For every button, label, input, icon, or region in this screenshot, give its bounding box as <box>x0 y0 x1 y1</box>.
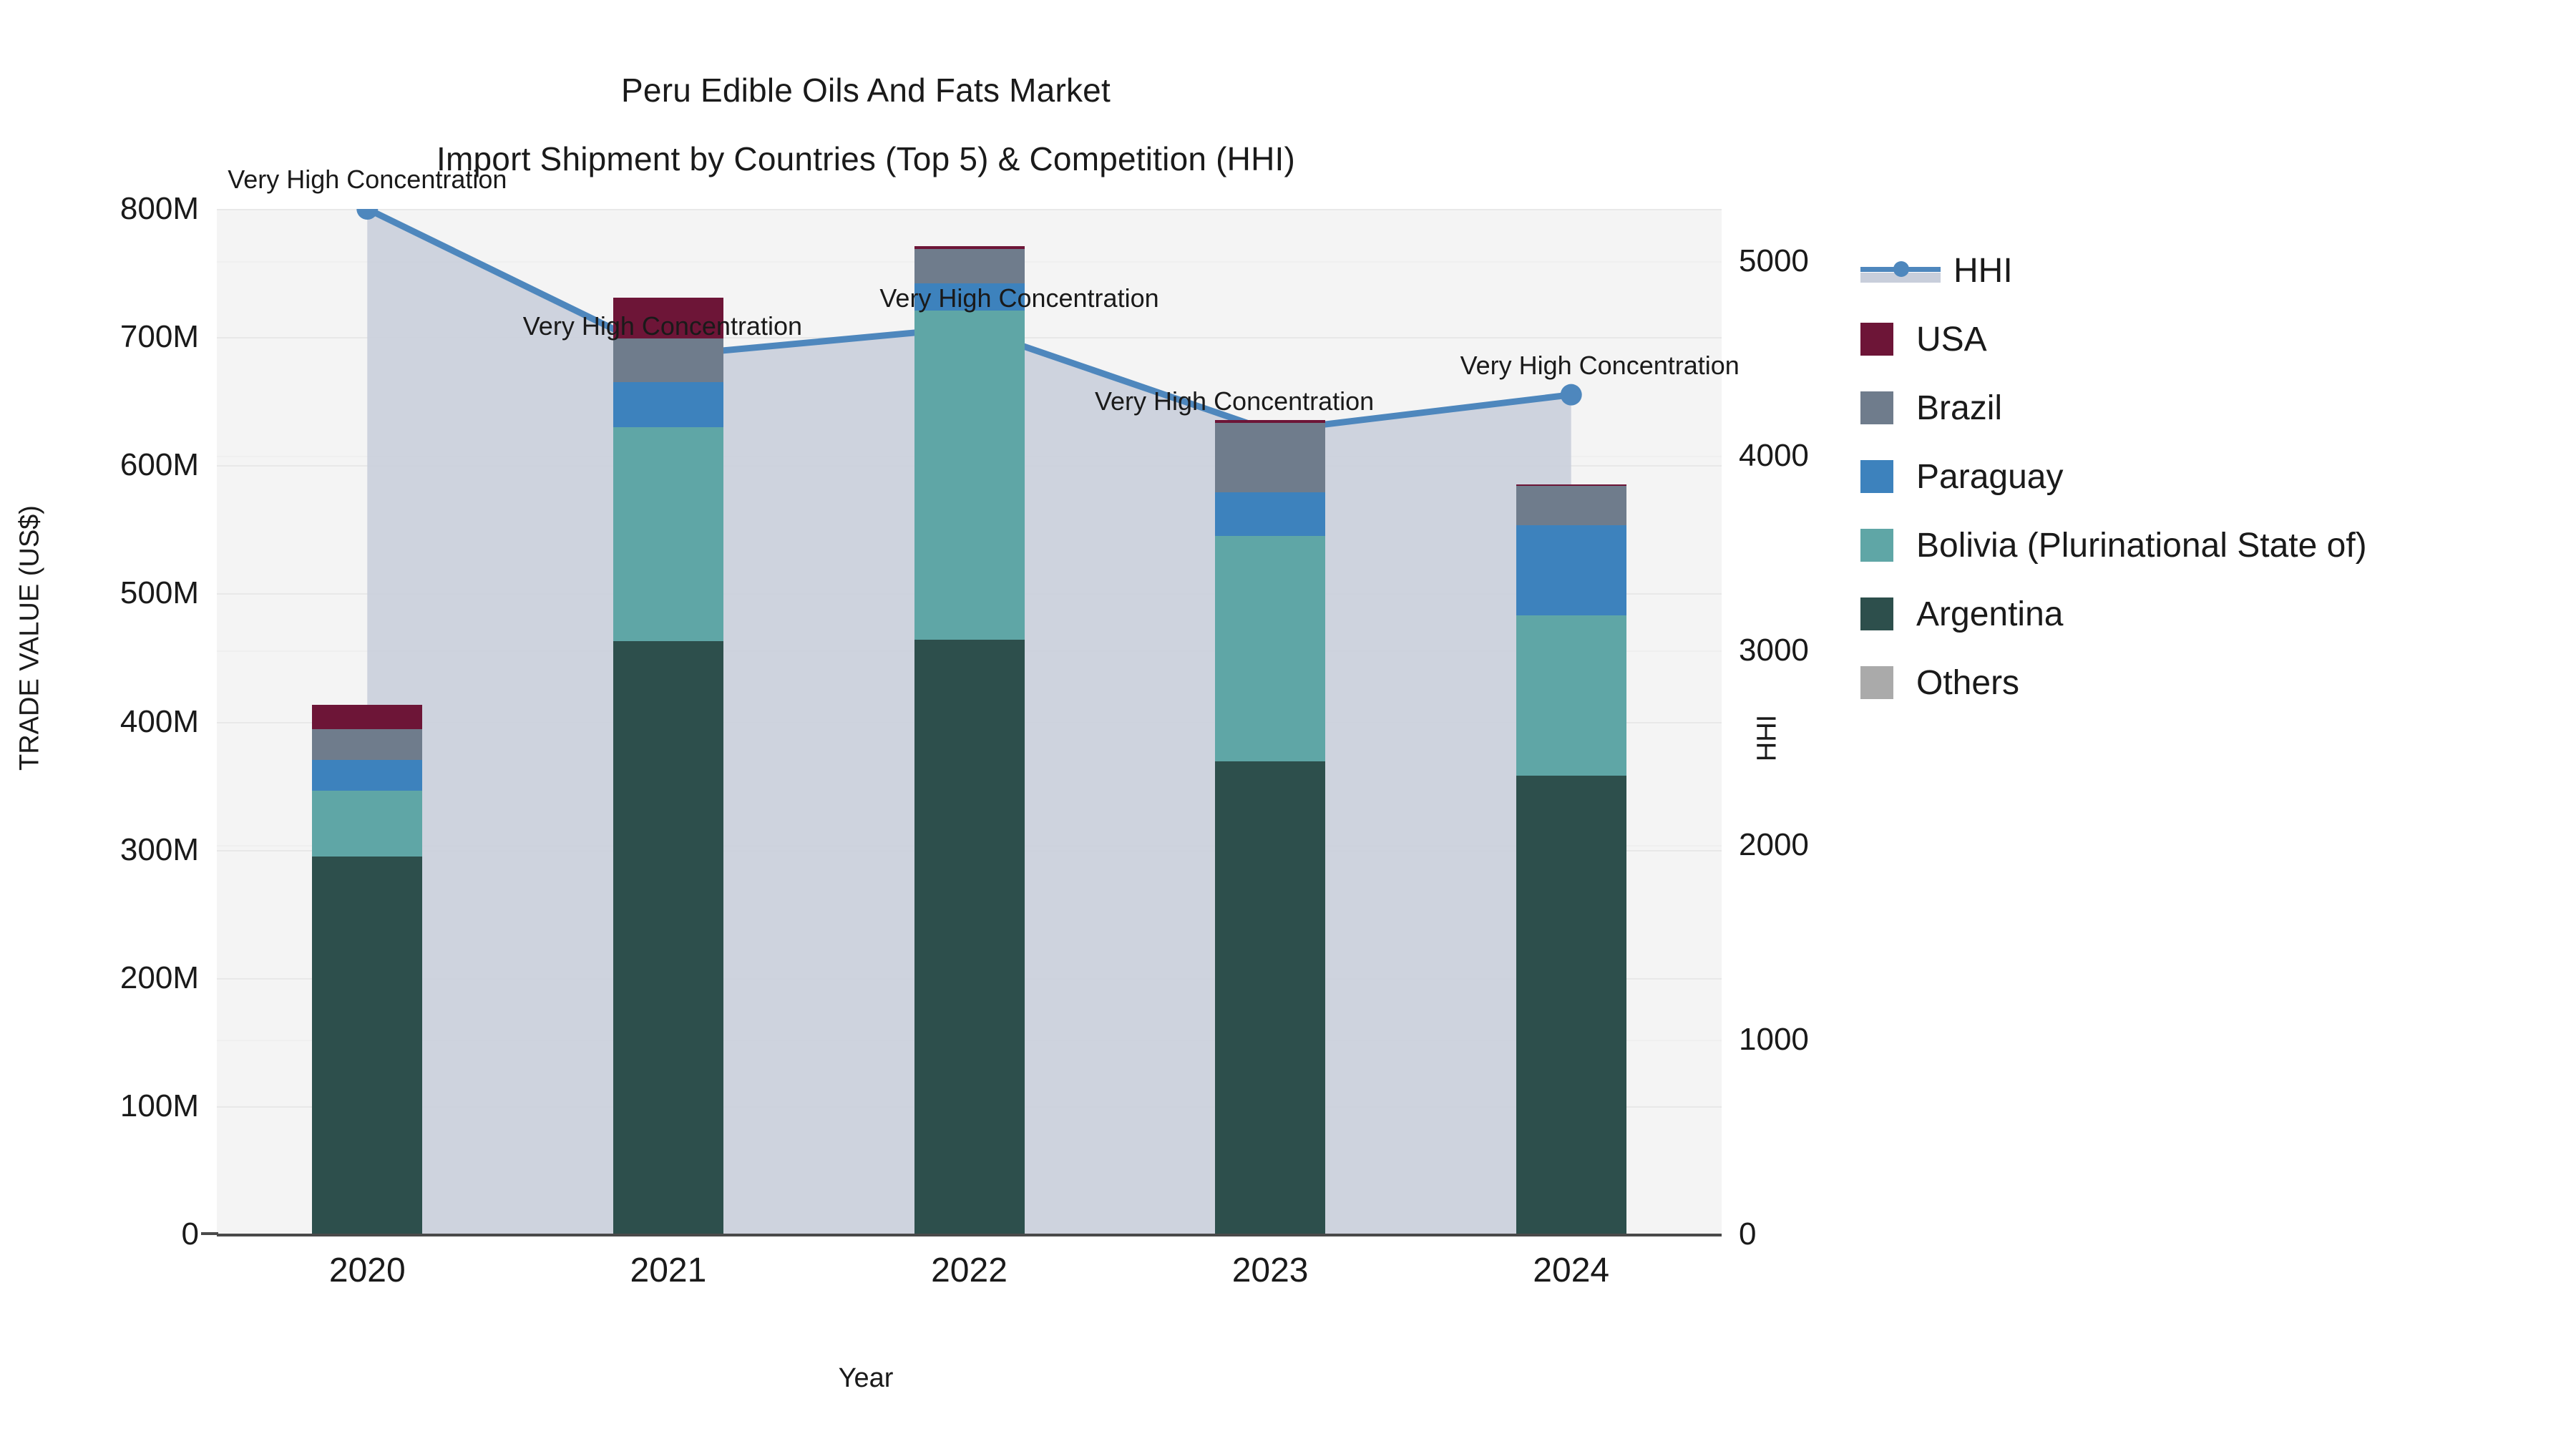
legend-item-usa[interactable]: USA <box>1860 305 2562 374</box>
bar-segment[interactable] <box>914 640 1025 1234</box>
bar-segment[interactable] <box>312 729 422 760</box>
bar-group[interactable] <box>914 209 1025 1234</box>
y-axis-left-tick-label: 0 <box>13 1216 199 1252</box>
bar-segment[interactable] <box>312 857 422 1234</box>
legend-item-bolivia-plurinational-state-of[interactable]: Bolivia (Plurinational State of) <box>1860 511 2562 580</box>
legend-item-paraguay[interactable]: Paraguay <box>1860 442 2562 511</box>
bar-segment[interactable] <box>1516 525 1626 615</box>
legend-item-label: Others <box>1916 663 2019 703</box>
y-axis-left-title: TRADE VALUE (US$) <box>15 209 46 1068</box>
legend-item-label: Argentina <box>1916 595 2063 634</box>
legend-line-marker-icon <box>1860 254 1941 287</box>
legend: HHIUSABrazilParaguayBolivia (Plurination… <box>1860 236 2562 717</box>
bar-segment[interactable] <box>1516 776 1626 1234</box>
bar-segment[interactable] <box>312 705 422 729</box>
concentration-annotation: Very High Concentration <box>1460 351 1740 381</box>
concentration-annotation: Very High Concentration <box>879 283 1158 313</box>
bar-segment[interactable] <box>1215 761 1325 1234</box>
x-axis-tick-label: 2024 <box>1533 1251 1609 1290</box>
bar-group[interactable] <box>1215 209 1325 1234</box>
bar-segment[interactable] <box>1516 486 1626 526</box>
legend-item-label: Brazil <box>1916 389 2002 428</box>
concentration-annotation: Very High Concentration <box>1095 386 1374 416</box>
y-axis-left-tick-label: 100M <box>13 1088 199 1124</box>
legend-item-brazil[interactable]: Brazil <box>1860 374 2562 442</box>
legend-item-label: USA <box>1916 320 1987 359</box>
y-axis-right-tick-label: 1000 <box>1739 1022 1953 1058</box>
x-axis-tick-label: 2021 <box>630 1251 707 1290</box>
legend-item-argentina[interactable]: Argentina <box>1860 580 2562 648</box>
x-axis-line <box>217 1234 1722 1236</box>
bar-segment[interactable] <box>914 249 1025 283</box>
legend-color-swatch <box>1860 597 1893 630</box>
bar-group[interactable] <box>312 209 422 1234</box>
bar-segment[interactable] <box>1516 484 1626 486</box>
legend-item-label: HHI <box>1953 251 2013 291</box>
concentration-annotation: Very High Concentration <box>228 165 507 195</box>
legend-color-swatch <box>1860 666 1893 699</box>
bar-segment[interactable] <box>613 641 723 1234</box>
bar-segment[interactable] <box>1215 420 1325 423</box>
chart-title-line-1: Peru Edible Oils And Fats Market <box>0 56 1732 125</box>
x-axis-tick-label: 2023 <box>1232 1251 1309 1290</box>
concentration-annotation: Very High Concentration <box>523 311 802 341</box>
x-axis-tick-label: 2020 <box>329 1251 406 1290</box>
bar-segment[interactable] <box>613 427 723 641</box>
legend-color-swatch <box>1860 323 1893 356</box>
legend-color-swatch <box>1860 529 1893 562</box>
bar-segment[interactable] <box>1516 615 1626 776</box>
legend-color-swatch <box>1860 391 1893 424</box>
legend-item-label: Paraguay <box>1916 457 2063 497</box>
chart-canvas: Peru Edible Oils And Fats Market Import … <box>0 0 2576 1449</box>
legend-item-others[interactable]: Others <box>1860 648 2562 717</box>
legend-marker-dot <box>1893 261 1909 277</box>
legend-item-hhi[interactable]: HHI <box>1860 236 2562 305</box>
bar-segment[interactable] <box>914 311 1025 640</box>
y-axis-left-cap <box>201 1232 218 1235</box>
bar-segment[interactable] <box>1215 536 1325 761</box>
bar-segment[interactable] <box>1215 492 1325 536</box>
bar-segment[interactable] <box>1215 423 1325 492</box>
bar-group[interactable] <box>613 209 723 1234</box>
bar-segment[interactable] <box>914 246 1025 249</box>
legend-color-swatch <box>1860 460 1893 493</box>
bar-segment[interactable] <box>613 338 723 382</box>
bar-segment[interactable] <box>312 760 422 791</box>
bar-segment[interactable] <box>312 791 422 856</box>
bar-segment[interactable] <box>613 382 723 427</box>
legend-item-label: Bolivia (Plurinational State of) <box>1916 526 2367 565</box>
x-axis-tick-label: 2022 <box>931 1251 1008 1290</box>
x-axis-title: Year <box>0 1363 1732 1394</box>
y-axis-right-title: HHI <box>1752 524 1783 953</box>
y-axis-right-tick-label: 0 <box>1739 1216 1953 1252</box>
